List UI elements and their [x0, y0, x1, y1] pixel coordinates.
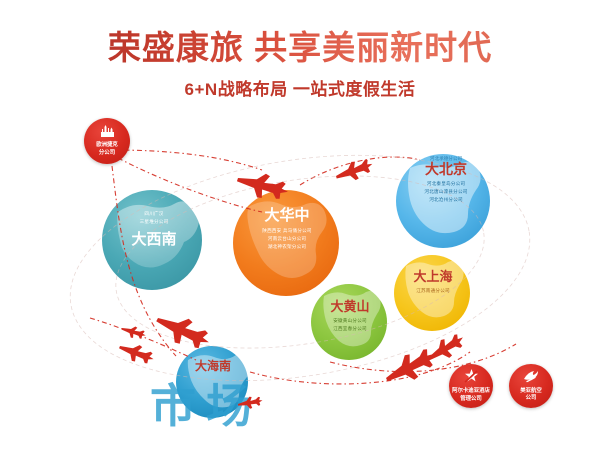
eagle-icon: [523, 370, 540, 387]
badge-europe-czech[interactable]: 欧洲捷克 分公司: [84, 118, 130, 164]
badge-meiya-line2: 公司: [526, 395, 537, 402]
region-huangshan-branch-list: 安徽黄山分公司 江西宜春分公司: [316, 317, 384, 333]
branch-item: 陕西西安 兵马俑分公司: [238, 227, 336, 235]
branch-item: 湖北神农架分公司: [238, 243, 336, 251]
badge-meiya-airlines[interactable]: 美亚航空 公司: [509, 364, 553, 408]
region-beijing-name: 大北京: [400, 162, 492, 176]
region-huangshan-name: 大黄山: [316, 300, 384, 313]
branch-item: 河北唐山滦县分公司: [400, 188, 492, 196]
region-hainan-name: 大海南: [182, 360, 244, 372]
region-huazhong-name: 大华中: [238, 208, 336, 223]
branch-item: 江西宜春分公司: [316, 325, 384, 333]
branch-item: 河北沧州分公司: [400, 196, 492, 204]
branch-item: 三星堆分公司: [118, 218, 190, 226]
badge-arcadia-line2: 管理公司: [460, 396, 482, 403]
badge-arcadia-hotel[interactable]: 阿尔卡迪亚酒店 管理公司: [449, 364, 493, 408]
badge-europe-czech-line2: 分公司: [99, 150, 115, 157]
region-beijing-branch-list: 河北秦皇岛分公司 河北唐山滦县分公司 河北沧州分公司: [400, 180, 492, 204]
star-swoosh-icon: [464, 369, 479, 387]
region-label-xinan[interactable]: 四川广汉 三星堆分公司 大西南: [118, 206, 190, 247]
region-shanghai-name: 大上海: [398, 270, 468, 283]
region-label-shanghai[interactable]: 大上海 江苏南通分公司: [398, 270, 468, 295]
castle-icon: [99, 125, 116, 141]
branch-item: 四川广汉: [118, 210, 190, 218]
region-xinan-name: 大西南: [118, 232, 190, 247]
branch-item: 安徽黄山分公司: [316, 317, 384, 325]
region-label-huangshan[interactable]: 大黄山 安徽黄山分公司 江西宜春分公司: [316, 300, 384, 333]
branch-item: 河南云台山分公司: [238, 235, 336, 243]
infographic-canvas: 荣盛康旅 共享美丽新时代 6+N战略布局 一站式度假生活: [0, 0, 600, 450]
badge-europe-czech-line1: 欧洲捷克: [96, 142, 118, 149]
region-label-beijing[interactable]: 河北承德分公司 大北京 河北秦皇岛分公司 河北唐山滦县分公司 河北沧州分公司: [400, 155, 492, 204]
branch-item: 河北秦皇岛分公司: [400, 180, 492, 188]
region-label-hainan[interactable]: 大海南: [182, 360, 244, 372]
badge-meiya-line1: 美亚航空: [520, 388, 542, 395]
region-xinan-branch-list: 四川广汉 三星堆分公司: [118, 210, 190, 226]
region-huazhong-branch-list: 陕西西安 兵马俑分公司 河南云台山分公司 湖北神农架分公司: [238, 227, 336, 251]
badge-arcadia-line1: 阿尔卡迪亚酒店: [452, 388, 490, 395]
region-shanghai-branch-list: 江苏南通分公司: [398, 287, 468, 295]
region-label-huazhong[interactable]: 大华中 陕西西安 兵马俑分公司 河南云台山分公司 湖北神农架分公司: [238, 208, 336, 251]
branch-item: 江苏南通分公司: [398, 287, 468, 295]
